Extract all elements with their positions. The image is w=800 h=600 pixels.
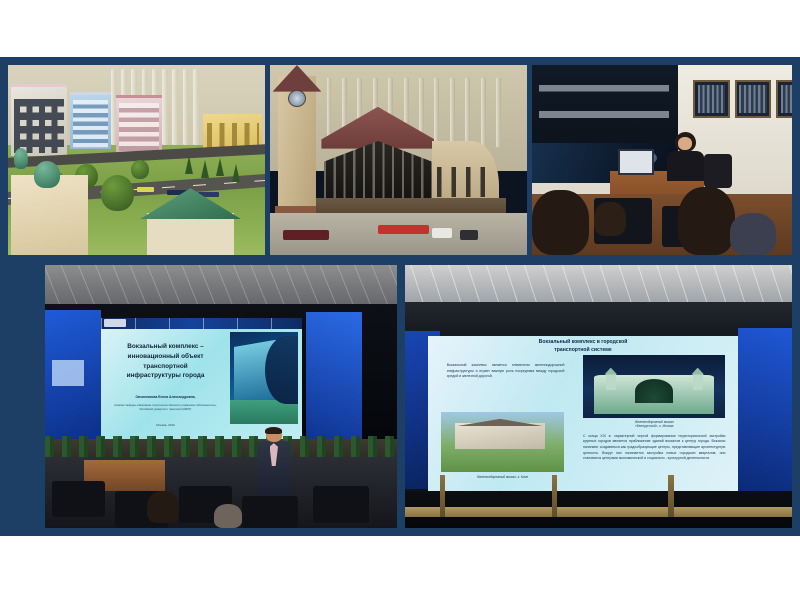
university-logo: [104, 319, 126, 326]
photo-collage: Scale model of a city district with high…: [0, 57, 800, 536]
model-church-building: [11, 175, 88, 255]
radiator-fin-icon: [496, 78, 501, 146]
slide-photo-klin-station: [441, 412, 565, 472]
standing-speaker: [256, 428, 291, 496]
podium-monitor: [618, 149, 654, 176]
model-car: [460, 230, 478, 240]
model-conifer-tree: [216, 158, 224, 176]
model-conifer-tree: [185, 156, 193, 174]
stage-barrier-rail: [405, 507, 792, 518]
projected-title-slide: Вокзальный комплекс – инновационный объе…: [101, 318, 302, 442]
model-church-dome: [34, 161, 60, 188]
slide-place-year: Москва, 2016: [113, 423, 217, 427]
presenter-body: [667, 151, 703, 181]
projection-wall-right-blue: [306, 312, 362, 438]
audience-member: [532, 190, 589, 255]
slide-photo-lawn: [230, 400, 298, 424]
photo-scale-model-city-diorama: Scale model of a city district with high…: [8, 65, 265, 255]
slide-caption-right: Железнодорожный вокзал «Белорусский», г.…: [583, 420, 725, 430]
photo-auditorium-content-slide: Вокзальный комплекс в городской транспор…: [405, 265, 792, 528]
auditorium-seat: [52, 481, 105, 518]
slide-terminal-photo: [230, 332, 298, 423]
model-church-dome: [14, 148, 28, 169]
model-bus: [378, 225, 429, 235]
station-tower: [693, 374, 703, 390]
speaker-hair: [265, 427, 282, 435]
clock-face-icon: [288, 90, 306, 107]
framed-photo: [693, 80, 729, 118]
framed-photo: [735, 80, 771, 118]
radiator-fin-icon: [162, 69, 168, 145]
projection-side-note: [52, 360, 84, 386]
office-chair: [704, 154, 733, 188]
audience-member: [678, 187, 735, 255]
slide-affiliation: аспирант кафедры «Экономика строительног…: [113, 404, 217, 412]
stage-plants: [45, 436, 397, 457]
model-car: [432, 228, 453, 238]
slide-paragraph-left: Вокзальный комплекс является элементом ж…: [447, 363, 565, 380]
model-building-highrise-white: [11, 84, 68, 156]
model-building-highrise-pink: [116, 95, 162, 152]
slide-author: Овчинникова Елена Александровна,: [113, 395, 217, 400]
slide-photo-belorussky-station: [583, 355, 725, 418]
audience-member: [214, 504, 242, 528]
auditorium-seat: [242, 496, 298, 528]
model-house-green-roof: [147, 213, 234, 255]
model-building-highrise-blue: [70, 92, 111, 149]
photo-auditorium-title-slide: Вокзальный комплекс – инновационный объе…: [45, 265, 397, 528]
auditorium-seat: [313, 486, 369, 523]
model-tree: [101, 175, 134, 211]
projected-content-slide: Вокзальный комплекс в городской транспор…: [428, 336, 738, 494]
model-conifer-tree: [232, 164, 240, 182]
slide-title: Вокзальный комплекс в городской транспор…: [484, 339, 682, 355]
radiator-fin-icon: [450, 78, 455, 146]
slide-caption-left: Железнодорожный вокзал, г. Клин: [441, 475, 565, 479]
model-conifer-tree: [201, 160, 209, 178]
model-bus: [283, 230, 329, 240]
info-panel-text-lines: [539, 72, 669, 130]
model-tree: [131, 160, 149, 179]
radiator-fin-icon: [183, 69, 189, 145]
photo-scale-model-railway-station: Scale model of a railway station buildin…: [270, 65, 527, 255]
radiator-fin-icon: [465, 78, 470, 146]
radiator-fin-icon: [481, 78, 486, 146]
photo-lecture-hall-presenter: Lecture room: a presenter seated at a wo…: [532, 65, 792, 255]
presenter-face: [678, 137, 692, 150]
audience-member: [594, 202, 625, 236]
slide-header-band: [101, 318, 302, 329]
model-station-rotunda-wing: [432, 141, 499, 206]
radiator-fin-icon: [172, 69, 178, 145]
station-tower: [606, 374, 616, 390]
lecture-wall-info-panel: [532, 65, 678, 183]
projection-wall-right-blue: [738, 328, 792, 491]
slide-title: Вокзальный комплекс – инновационный объе…: [109, 342, 221, 380]
stage-barrier-post: [668, 475, 673, 517]
model-tram: [137, 187, 155, 192]
auditorium-ceiling: [405, 265, 792, 307]
stage-barrier-post: [552, 475, 557, 517]
slide-paragraph-right: С конца XIX в. характерной чертой формир…: [583, 434, 725, 462]
stage-barrier-post: [440, 475, 445, 517]
radiator-fin-icon: [193, 69, 199, 145]
radiator-fin-icon: [434, 78, 439, 146]
audience-member: [730, 213, 777, 255]
audience-member: [147, 491, 179, 523]
framed-photo: [776, 80, 792, 118]
